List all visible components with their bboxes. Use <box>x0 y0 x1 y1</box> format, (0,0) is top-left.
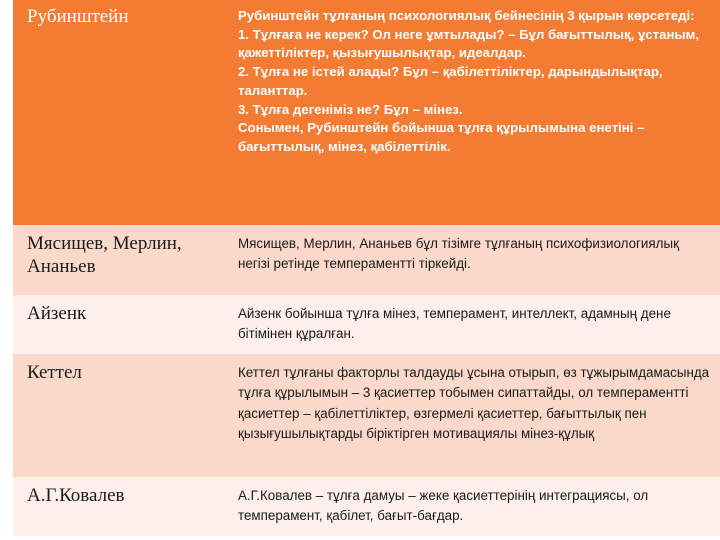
table-row[interactable]: Кеттел Кеттел тұлғаны факторлы талдауды … <box>13 354 720 477</box>
table-row[interactable]: Айзенк Айзенк бойынша тұлға мінез, темпе… <box>13 295 720 354</box>
table-row[interactable]: Мясищев, Мерлин, Ананьев Мясищев, Мерлин… <box>13 225 720 295</box>
row-description-text: Мясищев, Мерлин, Ананьев бұл тізімге тұл… <box>226 225 720 284</box>
row-description-text: Рубинштейн тұлғаның психологиялық бейнес… <box>226 0 720 165</box>
table-cell-description: Рубинштейн тұлғаның психологиялық бейнес… <box>226 0 720 225</box>
table-cell-name: Кеттел <box>13 354 226 477</box>
table-cell-name: Айзенк <box>13 295 226 354</box>
table-cell-name: Рубинштейн <box>13 0 226 225</box>
row-description-text: А.Г.Ковалев – тұлға дамуы – жеке қасиетт… <box>226 477 720 536</box>
table-cell-name: Мясищев, Мерлин, Ананьев <box>13 225 226 295</box>
row-name-label: Айзенк <box>13 295 226 334</box>
row-description-text: Кеттел тұлғаны факторлы талдауды ұсына о… <box>226 354 720 454</box>
table-cell-description: А.Г.Ковалев – тұлға дамуы – жеке қасиетт… <box>226 477 720 536</box>
table-cell-description: Айзенк бойынша тұлға мінез, темперамент,… <box>226 295 720 354</box>
content-table: Рубинштейн Рубинштейн тұлғаның психологи… <box>13 0 720 536</box>
table-row[interactable]: Рубинштейн Рубинштейн тұлғаның психологи… <box>13 0 720 225</box>
table-cell-description: Кеттел тұлғаны факторлы талдауды ұсына о… <box>226 354 720 477</box>
row-name-label: Кеттел <box>13 354 226 393</box>
table-cell-description: Мясищев, Мерлин, Ананьев бұл тізімге тұл… <box>226 225 720 295</box>
table-body: Рубинштейн Рубинштейн тұлғаның психологи… <box>13 0 720 536</box>
row-description-text: Айзенк бойынша тұлға мінез, темперамент,… <box>226 295 720 354</box>
table-cell-name: А.Г.Ковалев <box>13 477 226 536</box>
table-row[interactable]: А.Г.Ковалев А.Г.Ковалев – тұлға дамуы – … <box>13 477 720 536</box>
row-name-label: Рубинштейн <box>13 0 226 34</box>
slide-canvas: Рубинштейн Рубинштейн тұлғаның психологи… <box>0 0 720 540</box>
row-name-label: А.Г.Ковалев <box>13 477 226 516</box>
row-name-label: Мясищев, Мерлин, Ананьев <box>13 225 226 287</box>
